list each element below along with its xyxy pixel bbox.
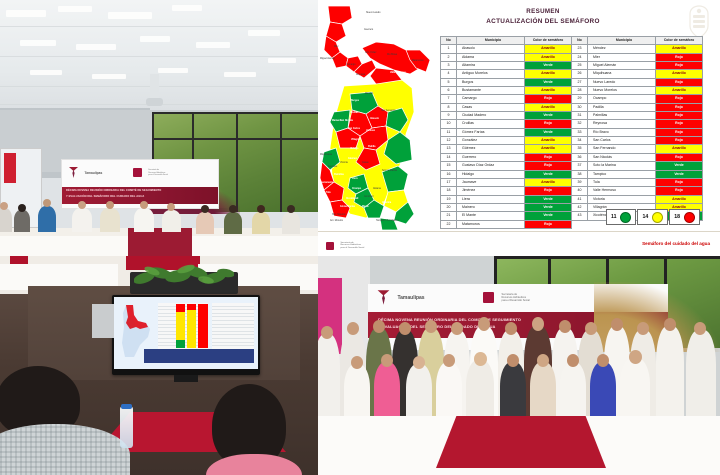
photo-collage: Tamaulipas Secretaría de Recursos Hidráu…: [0, 0, 720, 475]
table-row: 36San NicolásRojo: [572, 153, 703, 161]
slide-semaforo: RESUMEN ACTUALIZACIÓN DEL SEMÁFORO: [318, 0, 720, 256]
cell-no: 30: [572, 103, 588, 111]
ceiling: [0, 0, 318, 118]
cell-municipio: Antiguo Morelos: [457, 70, 525, 78]
cell-color-semaforo: Amarillo: [656, 145, 703, 153]
cell-color-semaforo: Rojo: [656, 153, 703, 161]
map-tamaulipas: Nuevo Laredo Guerrero Mier Gro. Ordaz Mi…: [320, 2, 436, 234]
cell-municipio: Matamoros: [457, 220, 525, 228]
table-row: 31PalmillasRojo: [572, 112, 703, 120]
presentation-display: [112, 295, 260, 375]
cell-no: 17: [441, 178, 457, 186]
table-row: 39TulaRojo: [572, 178, 703, 186]
cell-municipio: Burgos: [457, 78, 525, 86]
table-row: 25Miguel AlemánRojo: [572, 62, 703, 70]
cell-municipio: Jiménez: [457, 187, 525, 195]
table-row: 14GuerreroRojo: [441, 153, 572, 161]
table-row: 7CamargoRojo: [441, 95, 572, 103]
cell-color-semaforo: Rojo: [656, 95, 703, 103]
cell-municipio: Hidalgo: [457, 170, 525, 178]
table-row: 4Antiguo MorelosAmarillo: [441, 70, 572, 78]
cell-no: 39: [572, 178, 588, 186]
table-row: 13GüémezAmarillo: [441, 145, 572, 153]
cell-color-semaforo: Rojo: [656, 103, 703, 111]
cell-color-semaforo: Amarillo: [656, 87, 703, 95]
cell-color-semaforo: Rojo: [525, 120, 572, 128]
cell-color-semaforo: Verde: [525, 62, 572, 70]
cell-no: 42: [572, 203, 588, 211]
table-row: 22MatamorosRojo: [441, 220, 572, 228]
cell-municipio: Bustamante: [457, 87, 525, 95]
cell-municipio: Abasolo: [457, 45, 525, 53]
legend-dot-amarillo: [652, 212, 663, 223]
cell-municipio: San Fernando: [588, 145, 656, 153]
secretaria-logo-text: Secretaría de Recursos Hidráulicos para …: [340, 242, 364, 250]
cell-color-semaforo: Verde: [525, 170, 572, 178]
tamaulipas-logo-icon: [376, 289, 391, 306]
table-row: 27Nuevo LaredoRojo: [572, 78, 703, 86]
coat-of-arms-watermark-icon: [684, 4, 714, 40]
cell-color-semaforo: Rojo: [656, 187, 703, 195]
cell-color-semaforo: Amarillo: [525, 103, 572, 111]
cell-municipio: Victoria: [588, 195, 656, 203]
table-row: 18JiménezRojo: [441, 187, 572, 195]
cell-no: 40: [572, 187, 588, 195]
display-stand: [174, 375, 198, 382]
cell-no: 28: [572, 87, 588, 95]
slide-title: RESUMEN ACTUALIZACIÓN DEL SEMÁFORO: [428, 8, 658, 25]
cell-no: 35: [572, 145, 588, 153]
table-row: 5BurgosVerde: [441, 78, 572, 86]
cell-no: 5: [441, 78, 457, 86]
display-table-right: [212, 303, 254, 355]
table-row: 33Río BravoRojo: [572, 128, 703, 136]
table-row: 21El ManteVerde: [441, 212, 572, 220]
cell-color-semaforo: Amarillo: [525, 137, 572, 145]
cell-no: 15: [441, 162, 457, 170]
front-table-red-runner: [436, 416, 606, 468]
cell-municipio: Güémez: [457, 145, 525, 153]
cell-no: 13: [441, 145, 457, 153]
display-color-bars: [176, 304, 208, 350]
banner-title-line2: Y EVALUACIÓN DEL SEMÁFORO DEL CUIDADO DE…: [62, 195, 218, 201]
cell-color-semaforo: Amarillo: [525, 87, 572, 95]
cell-color-semaforo: Verde: [656, 162, 703, 170]
cell-municipio: Gómez Farías: [457, 128, 525, 136]
cell-no: 7: [441, 95, 457, 103]
cell-no: 2: [441, 53, 457, 61]
table-row: 2AldamaAmarillo: [441, 53, 572, 61]
cell-color-semaforo: Rojo: [656, 128, 703, 136]
legend-count: 18: [674, 214, 680, 220]
col-header-color: Color de semáforo: [525, 37, 572, 45]
photo-audience-screen: [0, 256, 318, 475]
secretaria-logo-text: Secretaría de Recursos Hidráulicos para …: [502, 293, 530, 303]
cell-color-semaforo: Amarillo: [525, 45, 572, 53]
cell-municipio: Guerrero: [457, 153, 525, 161]
cell-color-semaforo: Verde: [525, 78, 572, 86]
cell-municipio: Ocampo: [588, 95, 656, 103]
cell-municipio: Valle Hermoso: [588, 187, 656, 195]
cell-no: 37: [572, 162, 588, 170]
table-row: 23MéndezAmarillo: [572, 45, 703, 53]
table-row: 29OcampoRojo: [572, 95, 703, 103]
table-row: 11Gómez FaríasVerde: [441, 128, 572, 136]
event-banner-top: Tamaulipas Secretaría de Recursos Hidráu…: [62, 160, 218, 208]
table-row: 28Nuevo MorelosAmarillo: [572, 87, 703, 95]
tamaulipas-logo-icon: [68, 166, 79, 179]
cell-no: 43: [572, 212, 588, 220]
table-row: 1AbasoloAmarillo: [441, 45, 572, 53]
col-header-no: No: [572, 37, 588, 45]
table-row: 30PadillaRojo: [572, 103, 703, 111]
cell-color-semaforo: Amarillo: [656, 195, 703, 203]
display-screen-content: [114, 297, 258, 369]
cell-no: 36: [572, 153, 588, 161]
cell-municipio: González: [457, 137, 525, 145]
cell-no: 33: [572, 128, 588, 136]
table-row: 41VictoriaAmarillo: [572, 195, 703, 203]
display-blue-banner: [144, 349, 254, 363]
cell-no: 19: [441, 195, 457, 203]
water-bottle-cap: [121, 404, 132, 409]
cell-municipio: Reynosa: [588, 120, 656, 128]
cell-no: 25: [572, 62, 588, 70]
table-runner-front: [128, 236, 192, 256]
cell-municipio: Gustavo Díaz Ordaz: [457, 162, 525, 170]
cell-municipio: San Carlos: [588, 137, 656, 145]
cell-no: 1: [441, 45, 457, 53]
cell-no: 10: [441, 120, 457, 128]
legend-count: 14: [642, 214, 648, 220]
cell-color-semaforo: Rojo: [656, 62, 703, 70]
water-bottle: [120, 406, 133, 448]
banner-brand-top: Tamaulipas: [84, 171, 102, 175]
legend-item-verde: 11: [606, 209, 636, 225]
table-row: 6BustamanteAmarillo: [441, 87, 572, 95]
legend-item-rojo: 18: [669, 209, 700, 225]
cell-color-semaforo: Verde: [525, 128, 572, 136]
cell-no: 6: [441, 87, 457, 95]
cell-municipio: Nuevo Morelos: [588, 87, 656, 95]
table-row: 26MiquihuanaAmarillo: [572, 70, 703, 78]
cell-municipio: Mainero: [457, 203, 525, 211]
cell-color-semaforo: Rojo: [656, 53, 703, 61]
cell-color-semaforo: Rojo: [525, 162, 572, 170]
cell-color-semaforo: Verde: [525, 112, 572, 120]
photo-meeting-table: Tamaulipas Secretaría de Recursos Hidráu…: [0, 0, 318, 256]
cell-color-semaforo: Verde: [525, 203, 572, 211]
cell-no: 32: [572, 120, 588, 128]
cell-color-semaforo: Rojo: [656, 78, 703, 86]
secretaria-logo-icon: [483, 292, 494, 303]
cell-no: 23: [572, 45, 588, 53]
col-header-municipio: Municipio: [457, 37, 525, 45]
cell-municipio: Camargo: [457, 95, 525, 103]
footer-secretaria-logo: Secretaría de Recursos Hidráulicos para …: [326, 237, 364, 255]
legend-dot-rojo: [684, 212, 695, 223]
cell-color-semaforo: Amarillo: [525, 70, 572, 78]
cell-municipio: Llera: [457, 195, 525, 203]
cell-color-semaforo: Amarillo: [525, 178, 572, 186]
cell-municipio: Nuevo Laredo: [588, 78, 656, 86]
cell-municipio: Soto la Marina: [588, 162, 656, 170]
cell-no: 16: [441, 170, 457, 178]
cell-municipio: Méndez: [588, 45, 656, 53]
legend-dot-verde: [620, 212, 631, 223]
cell-municipio: Jaumave: [457, 178, 525, 186]
cell-color-semaforo: Verde: [525, 212, 572, 220]
audience-member-right: [212, 384, 318, 475]
cell-municipio: Cruillas: [457, 120, 525, 128]
secretaria-logo-icon: [133, 168, 142, 177]
secretaria-logo-icon: [326, 242, 334, 250]
col-header-color: Color de semáforo: [656, 37, 703, 45]
cell-municipio: Padilla: [588, 103, 656, 111]
table-row: 16HidalgoVerde: [441, 170, 572, 178]
cell-no: 11: [441, 128, 457, 136]
table-row: 35San FernandoAmarillo: [572, 145, 703, 153]
cell-color-semaforo: Amarillo: [525, 53, 572, 61]
cell-color-semaforo: Rojo: [656, 137, 703, 145]
table-row: 34San CarlosRojo: [572, 137, 703, 145]
plants: [134, 262, 234, 288]
legend-item-amarillo: 14: [637, 209, 668, 225]
table-row: 9Ciudad MaderoVerde: [441, 112, 572, 120]
table-row: 15Gustavo Díaz OrdazRojo: [441, 162, 572, 170]
cell-color-semaforo: Rojo: [525, 220, 572, 228]
cell-no: 9: [441, 112, 457, 120]
cell-color-semaforo: Rojo: [656, 178, 703, 186]
table-header-row: No Municipio Color de semáforo: [572, 37, 703, 45]
table-row: 20MaineroVerde: [441, 203, 572, 211]
table-row: 24MierRojo: [572, 53, 703, 61]
cell-municipio: Tampico: [588, 170, 656, 178]
cell-municipio: Miguel Alemán: [588, 62, 656, 70]
col-header-municipio: Municipio: [588, 37, 656, 45]
cell-no: 18: [441, 187, 457, 195]
cell-municipio: Mier: [588, 53, 656, 61]
cell-color-semaforo: Amarillo: [525, 145, 572, 153]
cell-no: 31: [572, 112, 588, 120]
cell-no: 3: [441, 62, 457, 70]
table-header-row: No Municipio Color de semáforo: [441, 37, 572, 45]
cell-no: 4: [441, 70, 457, 78]
cell-no: 29: [572, 95, 588, 103]
cell-municipio: Casas: [457, 103, 525, 111]
table-row: 32ReynosaRojo: [572, 120, 703, 128]
slide-title-line1: RESUMEN: [428, 8, 658, 15]
cell-no: 24: [572, 53, 588, 61]
cell-color-semaforo: Amarillo: [656, 45, 703, 53]
cell-no: 38: [572, 170, 588, 178]
cell-municipio: Tula: [588, 178, 656, 186]
cell-no: 41: [572, 195, 588, 203]
cell-no: 21: [441, 212, 457, 220]
cell-color-semaforo: Rojo: [525, 153, 572, 161]
table-row: 17JaumaveAmarillo: [441, 178, 572, 186]
cell-no: 26: [572, 70, 588, 78]
legend-count: 11: [611, 214, 616, 220]
cell-municipio: Palmillas: [588, 112, 656, 120]
slide-title-line2: ACTUALIZACIÓN DEL SEMÁFORO: [428, 18, 658, 25]
footer-tagline: Semáforo del cuidado del agua: [642, 241, 710, 246]
table-row: 37Soto la MarinaVerde: [572, 162, 703, 170]
cell-no: 14: [441, 153, 457, 161]
table-row: 38TampicoVerde: [572, 170, 703, 178]
table-row: 12GonzálezAmarillo: [441, 137, 572, 145]
cell-no: 8: [441, 103, 457, 111]
cell-no: 22: [441, 220, 457, 228]
cell-municipio: San Nicolás: [588, 153, 656, 161]
cell-no: 27: [572, 78, 588, 86]
banner-brand-bottom: Tamaulipas: [397, 295, 424, 301]
cell-color-semaforo: Amarillo: [656, 70, 703, 78]
table-row: 19LleraVerde: [441, 195, 572, 203]
table-row: 40Valle HermosoRojo: [572, 187, 703, 195]
col-header-no: No: [441, 37, 457, 45]
cell-municipio: Río Bravo: [588, 128, 656, 136]
banner-logo-row: Tamaulipas Secretaría de Recursos Hidráu…: [376, 289, 530, 307]
cell-municipio: Aldama: [457, 53, 525, 61]
cell-color-semaforo: Verde: [525, 195, 572, 203]
cell-no: 34: [572, 137, 588, 145]
cell-color-semaforo: Rojo: [525, 95, 572, 103]
secretaria-logo-text: Secretaría de Recursos Hidráulicos para …: [148, 169, 168, 176]
table-row: 8CasasAmarillo: [441, 103, 572, 111]
table-row: 3AltamiraVerde: [441, 62, 572, 70]
photo-group-photo: Tamaulipas Secretaría de Recursos Hidráu…: [318, 256, 720, 475]
cell-color-semaforo: Rojo: [525, 187, 572, 195]
tabla-municipios-1: No Municipio Color de semáforo 1AbasoloA…: [440, 36, 572, 229]
cell-no: 12: [441, 137, 457, 145]
cell-municipio: Miquihuana: [588, 70, 656, 78]
banner-logo-row: Tamaulipas Secretaría de Recursos Hidráu…: [68, 164, 214, 181]
slide-footer: Secretaría de Recursos Hidráulicos para …: [318, 231, 720, 256]
tabla-municipios-2: No Municipio Color de semáforo 23MéndezA…: [571, 36, 703, 221]
cell-color-semaforo: Verde: [656, 170, 703, 178]
cell-color-semaforo: Rojo: [656, 112, 703, 120]
cell-no: 20: [441, 203, 457, 211]
semaforo-legend: 111418: [606, 209, 700, 225]
cell-municipio: Ciudad Madero: [457, 112, 525, 120]
table-row: 10CruillasRojo: [441, 120, 572, 128]
cell-municipio: Altamira: [457, 62, 525, 70]
cell-color-semaforo: Rojo: [656, 120, 703, 128]
lectern: [92, 304, 114, 338]
cell-municipio: El Mante: [457, 212, 525, 220]
